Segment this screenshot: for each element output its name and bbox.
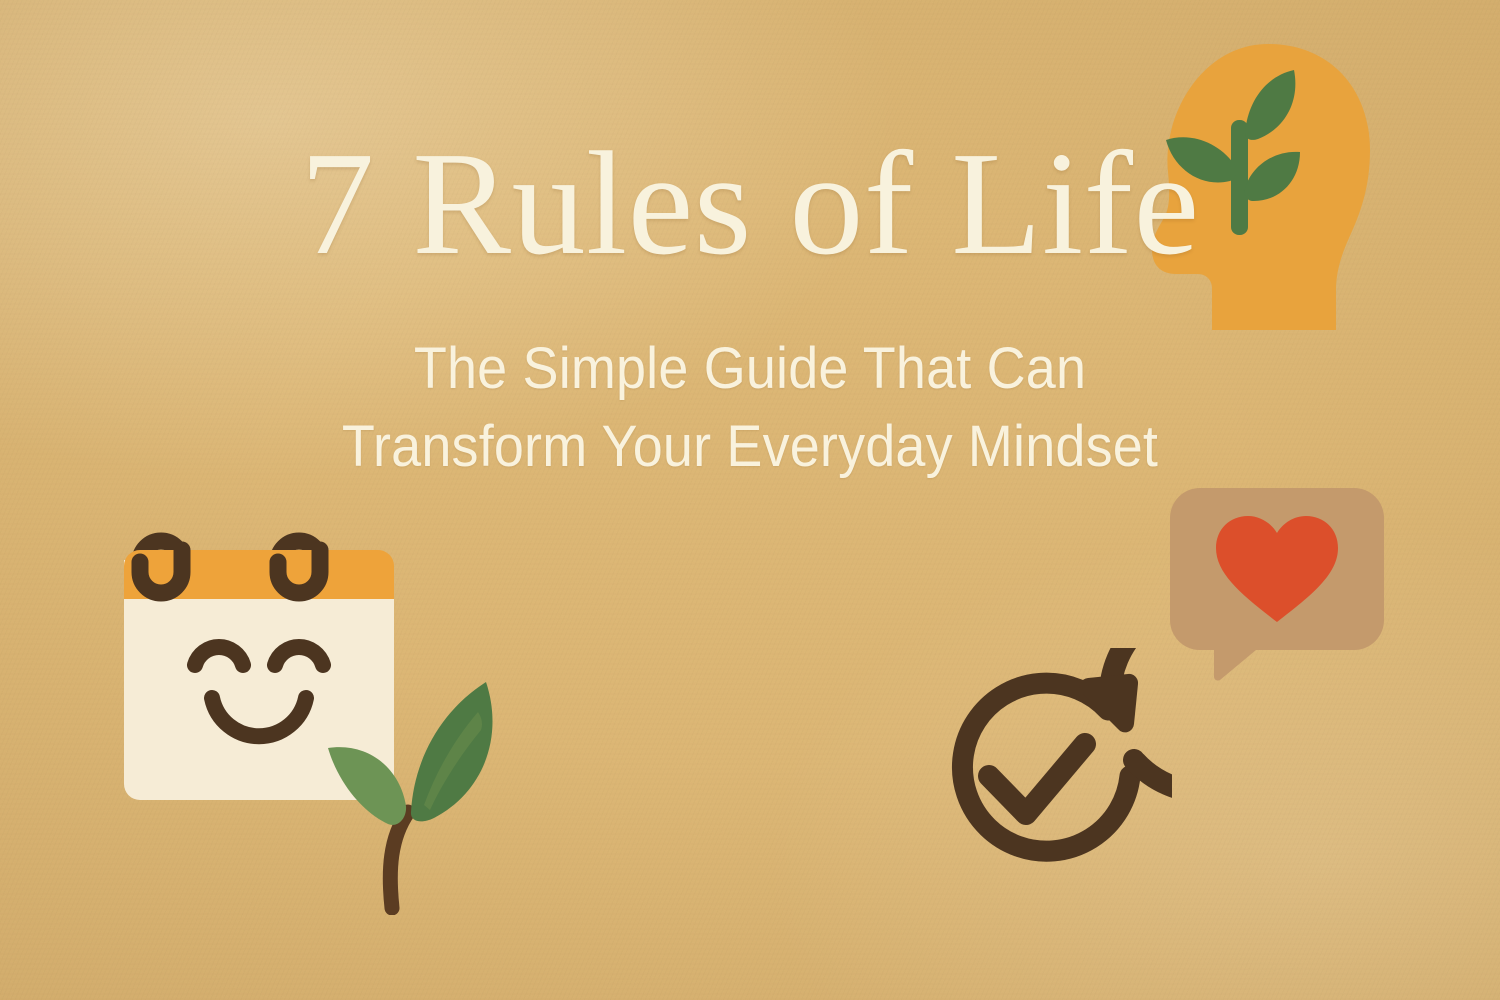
check-mark [989, 744, 1085, 814]
page-subtitle: The Simple Guide That Can Transform Your… [0, 330, 1500, 486]
subtitle-line-2: Transform Your Everyday Mindset [53, 408, 1448, 486]
page-title: 7 Rules of Life [0, 130, 1500, 278]
speech-bubble-heart-icon [1164, 482, 1400, 687]
sprout-icon [318, 660, 508, 915]
subtitle-line-1: The Simple Guide That Can [53, 330, 1448, 408]
poster-canvas: 7 Rules of Life The Simple Guide That Ca… [0, 0, 1500, 1000]
refresh-check-icon [912, 648, 1172, 910]
sprout-leaf-small [328, 747, 406, 825]
sprout-stem [390, 812, 408, 908]
